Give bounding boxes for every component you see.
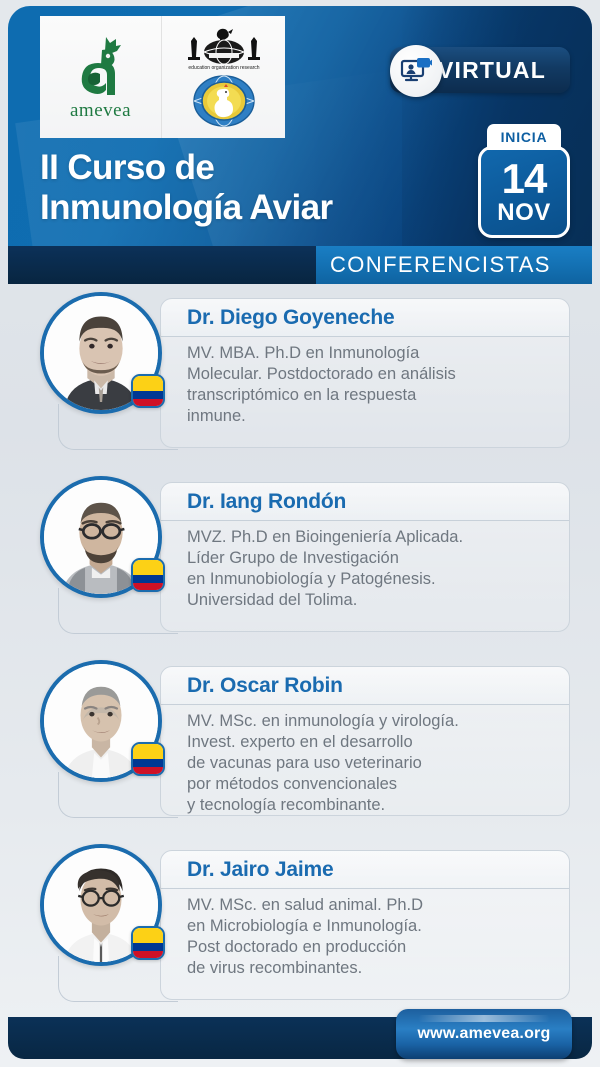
partner-logos-group: education organization research <box>162 16 285 138</box>
flag-stripe-red <box>133 767 163 775</box>
speakers-section-bar: CONFERENCISTAS <box>8 246 592 284</box>
colombia-flag-badge <box>131 742 165 776</box>
flag-stripe-yellow <box>133 376 163 391</box>
amevea-rooster-a-logo <box>72 33 130 99</box>
flag-stripe-red <box>133 951 163 959</box>
video-call-monitor-icon <box>390 45 442 97</box>
inicia-label: INICIA <box>487 124 561 150</box>
virtual-badge: VIRTUAL <box>390 46 570 94</box>
speaker-card: Dr. Jairo Jaime MV. MSc. en salud animal… <box>0 844 600 1022</box>
speaker-bio: MV. MBA. Ph.D en Inmunología Molecular. … <box>161 337 569 427</box>
speaker-name: Dr. Diego Goyeneche <box>187 306 394 330</box>
colombia-flag-badge <box>131 374 165 408</box>
speaker-avatar <box>40 476 162 598</box>
virtual-label: VIRTUAL <box>438 57 546 84</box>
speaker-avatar <box>40 292 162 414</box>
speaker-card: Dr. Iang Rondón MVZ. Ph.D en Bioingenier… <box>0 476 600 654</box>
wvpa-tagline-text: education organization research <box>188 65 259 71</box>
flag-stripe-blue <box>133 575 163 583</box>
speakers-bar-right-block: CONFERENCISTAS <box>316 246 592 284</box>
colombia-flag-badge <box>131 926 165 960</box>
poster-footer: www.amevea.org <box>8 1017 592 1059</box>
speaker-info-panel: Dr. Jairo Jaime MV. MSc. en salud animal… <box>160 850 570 1000</box>
flag-stripe-blue <box>133 943 163 951</box>
date-month: NOV <box>497 201 551 225</box>
speaker-name: Dr. Jairo Jaime <box>187 858 333 882</box>
flag-stripe-red <box>133 583 163 591</box>
flag-stripe-blue <box>133 391 163 399</box>
speakers-bar-left-block <box>8 246 316 284</box>
speaker-avatar <box>40 844 162 966</box>
date-day: 14 <box>502 159 547 199</box>
speaker-info-panel: Dr. Iang Rondón MVZ. Ph.D en Bioingenier… <box>160 482 570 632</box>
speaker-name: Dr. Iang Rondón <box>187 490 346 514</box>
speaker-bio: MVZ. Ph.D en Bioingeniería Aplicada. Líd… <box>161 521 569 611</box>
flag-stripe-red <box>133 399 163 407</box>
start-date-badge: INICIA 14 NOV <box>478 124 570 238</box>
speaker-bio: MV. MSc. en salud animal. Ph.D en Microb… <box>161 889 569 979</box>
flag-stripe-yellow <box>133 744 163 759</box>
speaker-info-panel: Dr. Diego Goyeneche MV. MBA. Ph.D en Inm… <box>160 298 570 448</box>
amevea-globe-chicken-seal <box>193 75 255 127</box>
organizer-logo-panel: amevea education organization research <box>40 16 285 138</box>
speaker-card: Dr. Diego Goyeneche MV. MBA. Ph.D en Inm… <box>0 292 600 470</box>
speaker-name: Dr. Oscar Robin <box>187 674 343 698</box>
wvpa-rooster-globe-logo: education organization research <box>185 27 263 73</box>
speaker-name-band: Dr. Diego Goyeneche <box>161 299 569 337</box>
speaker-info-panel: Dr. Oscar Robin MV. MSc. en inmunología … <box>160 666 570 816</box>
speaker-name-band: Dr. Jairo Jaime <box>161 851 569 889</box>
flag-stripe-yellow <box>133 560 163 575</box>
flag-stripe-blue <box>133 759 163 767</box>
poster-root: amevea education organization research <box>0 0 600 1067</box>
speaker-name-band: Dr. Iang Rondón <box>161 483 569 521</box>
website-url: www.amevea.org <box>418 1025 551 1043</box>
title-line-2: Inmunología Aviar <box>40 188 333 227</box>
poster-header: amevea education organization research <box>8 6 592 246</box>
flag-stripe-yellow <box>133 928 163 943</box>
speaker-avatar <box>40 660 162 782</box>
speakers-heading: CONFERENCISTAS <box>330 252 551 278</box>
website-button[interactable]: www.amevea.org <box>396 1009 572 1059</box>
amevea-wordmark: amevea <box>70 100 131 122</box>
title-line-1: II Curso de <box>40 148 214 187</box>
speaker-card: Dr. Oscar Robin MV. MSc. en inmunología … <box>0 660 600 838</box>
speakers-list: Dr. Diego Goyeneche MV. MBA. Ph.D en Inm… <box>0 292 600 1022</box>
date-box: 14 NOV <box>478 146 570 238</box>
colombia-flag-badge <box>131 558 165 592</box>
speaker-bio: MV. MSc. en inmunología y virología. Inv… <box>161 705 569 816</box>
amevea-logo-group: amevea <box>40 16 162 138</box>
course-title: II Curso de Inmunología Aviar <box>40 148 333 228</box>
speaker-name-band: Dr. Oscar Robin <box>161 667 569 705</box>
